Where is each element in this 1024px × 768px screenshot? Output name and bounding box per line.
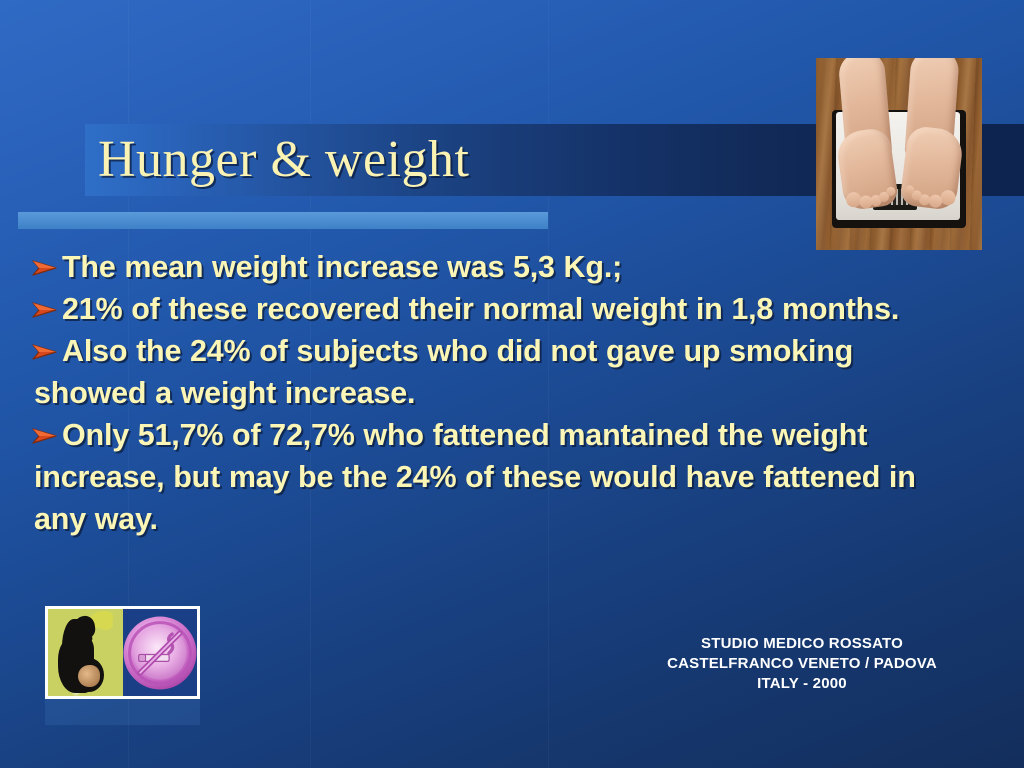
list-item-text: 21% of these recovered their normal weig… xyxy=(62,292,899,326)
no-smoking-badge-panel xyxy=(123,609,198,696)
footer-line-1: STUDIO MEDICO ROSSATO xyxy=(604,634,1000,654)
arrow-bullet-icon xyxy=(32,333,62,361)
page-title: Hunger & weight xyxy=(98,126,858,196)
list-item: Only 51,7% of 72,7% who fattened mantain… xyxy=(34,414,964,540)
smoke-puff-icon xyxy=(98,619,113,630)
logo-backdrop xyxy=(45,699,200,725)
arrow-bullet-icon xyxy=(32,417,62,445)
bullet-list: The mean weight increase was 5,3 Kg.; 21… xyxy=(34,246,964,540)
list-item-text: Also the 24% of subjects who did not gav… xyxy=(34,334,853,410)
no-smoking-icon xyxy=(123,615,198,691)
list-item: The mean weight increase was 5,3 Kg.; xyxy=(34,246,964,288)
right-foot xyxy=(899,125,964,211)
presentation-slide: Hunger & weight The mean weight increase… xyxy=(0,0,1024,768)
list-item-text: The mean weight increase was 5,3 Kg.; xyxy=(62,250,622,284)
list-item: Also the 24% of subjects who did not gav… xyxy=(34,330,964,414)
footer-credit: STUDIO MEDICO ROSSATO CASTELFRANCO VENET… xyxy=(604,634,1000,694)
pregnant-smoker-no-smoking-logo xyxy=(45,606,200,699)
footer-line-2: CASTELFRANCO VENETO / PADOVA xyxy=(604,654,1000,674)
feet-on-bathroom-scale-photo xyxy=(816,58,982,250)
title-accent-bar xyxy=(18,212,548,229)
list-item: 21% of these recovered their normal weig… xyxy=(34,288,964,330)
fetus xyxy=(78,665,100,687)
footer-line-3: ITALY - 2000 xyxy=(604,674,1000,694)
list-item-text: Only 51,7% of 72,7% who fattened mantain… xyxy=(34,418,916,536)
arrow-bullet-icon xyxy=(32,291,62,319)
arrow-bullet-icon xyxy=(32,249,62,277)
pregnant-smoker-illustration xyxy=(48,609,123,696)
